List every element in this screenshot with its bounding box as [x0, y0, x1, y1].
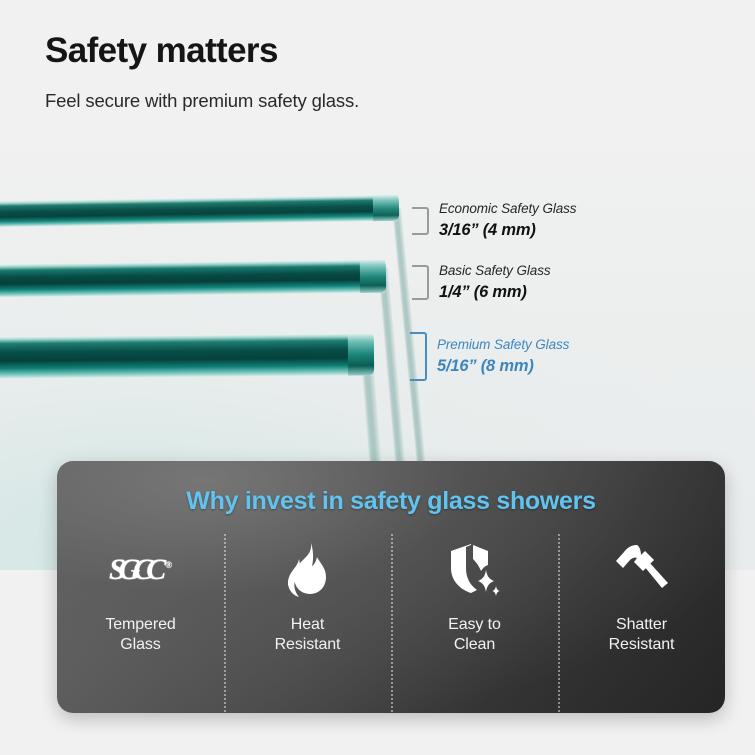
trademark-symbol: ® — [165, 560, 172, 570]
glass-option-thickness: 3/16” (4 mm) — [439, 219, 576, 241]
glass-pane-face — [0, 333, 373, 378]
benefit-label-line1: Tempered — [105, 615, 175, 635]
glass-pane-edge — [348, 333, 374, 375]
page-title: Safety matters — [45, 32, 645, 71]
glass-pane-face — [0, 195, 398, 227]
page-subtitle: Feel secure with premium safety glass. — [45, 90, 645, 112]
shield-sparkle-icon — [448, 539, 502, 601]
glass-option-name: Basic Safety Glass — [439, 262, 551, 280]
benefit-label-line1: Easy to — [448, 615, 501, 635]
benefit-shatter-resistant: Shatter Resistant — [558, 539, 725, 704]
glass-pane-edge — [373, 195, 399, 221]
glass-option-thickness: 5/16” (8 mm) — [437, 355, 569, 377]
thickness-bracket-icon — [412, 207, 429, 235]
glass-pane-economic — [0, 195, 398, 227]
benefits-card-title: Why invest in safety glass showers — [57, 487, 725, 516]
benefit-tempered-glass: SGCC® Tempered Glass — [57, 539, 224, 704]
measure-premium: Premium Safety Glass 5/16” (8 mm) — [410, 332, 569, 381]
sgcc-logo-text: SGCC — [109, 553, 159, 587]
flame-icon — [285, 539, 331, 601]
benefit-easy-to-clean: Easy to Clean — [391, 539, 558, 704]
glass-pane-basic — [0, 260, 385, 298]
benefit-label-line2: Glass — [105, 635, 175, 655]
benefits-card: Why invest in safety glass showers SGCC®… — [57, 461, 725, 713]
thickness-bracket-icon — [412, 265, 429, 300]
hammer-icon — [612, 539, 672, 601]
benefits-list: SGCC® Tempered Glass Heat Resistant — [57, 539, 725, 704]
thickness-bracket-icon — [410, 332, 427, 381]
benefit-label-line1: Heat — [275, 615, 341, 635]
benefit-label-line2: Resistant — [275, 635, 341, 655]
glass-option-name: Economic Safety Glass — [439, 200, 576, 218]
benefit-label-line2: Resistant — [609, 635, 675, 655]
glass-option-name: Premium Safety Glass — [437, 336, 569, 354]
measure-economic: Economic Safety Glass 3/16” (4 mm) — [412, 200, 576, 241]
benefit-label-line1: Shatter — [609, 615, 675, 635]
glass-option-thickness: 1/4” (6 mm) — [439, 281, 551, 303]
sgcc-certification-logo-icon: SGCC® — [109, 539, 172, 601]
infographic-root: Safety matters Feel secure with premium … — [0, 0, 755, 755]
measure-basic: Basic Safety Glass 1/4” (6 mm) — [412, 262, 551, 303]
glass-pane-edge — [360, 260, 386, 293]
header: Safety matters Feel secure with premium … — [45, 32, 645, 112]
benefit-label-line2: Clean — [448, 635, 501, 655]
glass-pane-premium — [0, 333, 373, 378]
glass-pane-face — [0, 260, 385, 298]
benefit-heat-resistant: Heat Resistant — [224, 539, 391, 704]
